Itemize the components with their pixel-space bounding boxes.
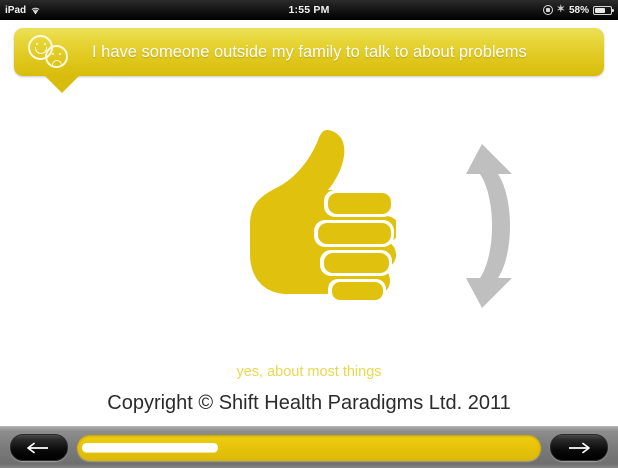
arrow-right-icon xyxy=(566,442,592,454)
copyright-text: Copyright © Shift Health Paradigms Ltd. … xyxy=(0,392,618,415)
battery-percent-label: 58% xyxy=(569,5,589,16)
progress-bar[interactable] xyxy=(77,435,541,461)
double-curved-arrow-icon[interactable] xyxy=(452,140,530,312)
wifi-icon xyxy=(30,6,41,15)
answer-area: yes, about most things xyxy=(0,112,618,352)
sad-eye-left xyxy=(52,53,54,55)
battery-icon xyxy=(593,6,612,15)
bottom-toolbar xyxy=(0,426,618,468)
arrow-left-icon xyxy=(26,442,52,454)
answer-label: yes, about most things xyxy=(0,364,618,380)
bubble-tail xyxy=(44,75,80,93)
app-root: iPad 1:55 PM ✶ 58% xyxy=(0,0,618,468)
status-bar-left: iPad xyxy=(0,5,150,16)
bluetooth-icon: ✶ xyxy=(557,5,565,15)
question-bubble-container: I have someone outside my family to talk… xyxy=(14,28,604,76)
progress-fill xyxy=(82,443,218,452)
status-bar-right: ✶ 58% xyxy=(468,5,618,16)
battery-fill xyxy=(595,8,605,13)
status-bar-clock: 1:55 PM xyxy=(150,4,468,16)
question-text: I have someone outside my family to talk… xyxy=(92,43,527,62)
status-bar: iPad 1:55 PM ✶ 58% xyxy=(0,0,618,20)
sad-eye-right xyxy=(59,53,61,55)
question-bubble: I have someone outside my family to talk… xyxy=(14,28,604,76)
happy-eye-right xyxy=(44,43,46,45)
rotation-lock-icon xyxy=(543,5,553,15)
back-button[interactable] xyxy=(10,434,68,461)
thumbs-up-icon[interactable] xyxy=(236,128,396,323)
sad-face-icon xyxy=(45,45,68,68)
happy-eye-left xyxy=(36,43,38,45)
device-name-label: iPad xyxy=(5,5,26,16)
happy-sad-faces-icon xyxy=(28,35,80,69)
sad-mouth xyxy=(52,60,62,66)
forward-button[interactable] xyxy=(550,434,608,461)
